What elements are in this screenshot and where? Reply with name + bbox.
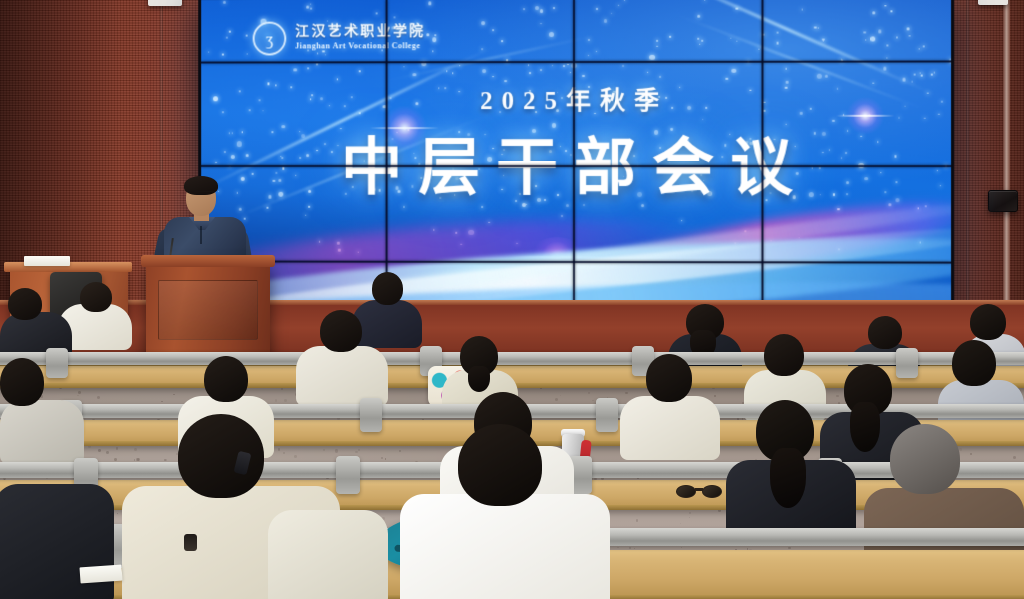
- person-head: [952, 340, 996, 386]
- paper-on-desk: [79, 565, 122, 584]
- light-ribbons: [201, 189, 951, 316]
- person-head: [204, 356, 248, 402]
- wall-mounted-speaker: [988, 190, 1018, 212]
- person-head: [868, 316, 902, 349]
- wall-conduit: [1003, 0, 1010, 300]
- person-head: [0, 358, 44, 406]
- glasses-icon: [188, 191, 214, 197]
- wristwatch: [184, 534, 197, 551]
- podium-top: [141, 255, 275, 267]
- ceiling-light-fitting: [978, 0, 1008, 5]
- podium-front-panel: [158, 280, 258, 340]
- presenter-placket: [200, 226, 202, 244]
- person-head: [320, 310, 362, 352]
- logo-emblem-icon: ʒ: [253, 22, 287, 56]
- college-name-cn: 江汉艺术职业学院: [295, 26, 425, 41]
- person-head: [890, 424, 960, 494]
- panel-seam-horizontal: [201, 165, 951, 167]
- ponytail: [770, 448, 806, 508]
- panel-seam-vertical: [386, 0, 388, 315]
- audience-member: [296, 310, 388, 402]
- audience-member: [726, 400, 856, 540]
- ponytail: [468, 366, 490, 392]
- person-head: [646, 354, 692, 402]
- sunglasses-lens-right: [702, 485, 722, 498]
- audience-member: [268, 462, 388, 599]
- person-head: [178, 414, 264, 498]
- person-head: [372, 272, 403, 305]
- person-head: [80, 282, 112, 312]
- person-head: [764, 334, 804, 376]
- person-torso: [400, 494, 610, 599]
- led-video-wall[interactable]: ʒ 江汉艺术职业学院 Jianghan Art Vocational Colle…: [198, 0, 954, 319]
- paper-on-table: [24, 256, 70, 266]
- audience-member: [400, 424, 610, 599]
- slide-title: 中层干部会议: [201, 117, 951, 208]
- person-torso: [296, 346, 388, 406]
- person-head: [458, 424, 542, 506]
- college-logo: ʒ 江汉艺术职业学院 Jianghan Art Vocational Colle…: [253, 21, 426, 55]
- panel-seam-vertical: [573, 0, 575, 315]
- person-head: [8, 288, 42, 320]
- rail-bracket: [360, 398, 382, 432]
- person-head: [970, 304, 1006, 340]
- person-torso: [268, 510, 388, 599]
- audience-member: [620, 354, 720, 454]
- sunglasses-lens-left: [676, 485, 696, 498]
- lecture-hall-photo: ʒ 江汉艺术职业学院 Jianghan Art Vocational Colle…: [0, 0, 1024, 599]
- logo-mark-glyph: ʒ: [266, 30, 273, 47]
- panel-seam-vertical: [761, 0, 763, 315]
- slide-subtitle: 2025年秋季: [201, 81, 951, 118]
- ceiling-light-fitting: [148, 0, 182, 6]
- college-name-en: Jianghan Art Vocational College: [295, 42, 425, 51]
- sunglasses-on-desk: [676, 485, 722, 498]
- person-torso: [620, 396, 720, 460]
